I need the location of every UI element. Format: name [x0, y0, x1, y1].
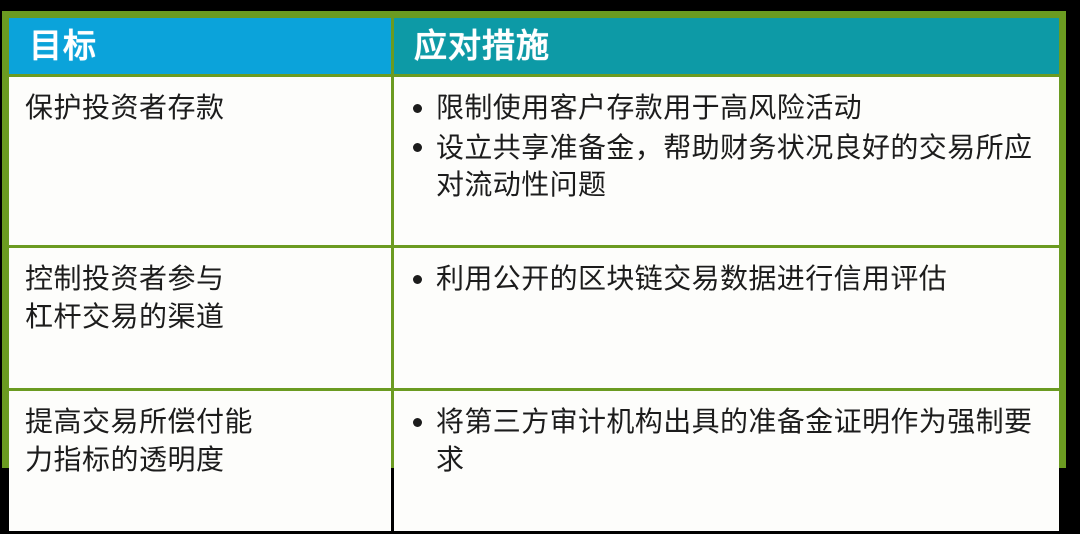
goal-line: 提高交易所偿付能 — [25, 403, 377, 441]
goal-line: 杠杆交易的渠道 — [25, 298, 377, 336]
table-row: 提高交易所偿付能 力指标的透明度 将第三方审计机构出具的准备金证明作为强制要求 — [9, 391, 1059, 531]
goal-line: 力指标的透明度 — [25, 441, 377, 479]
measure-item: 设立共享准备金，帮助财务状况良好的交易所应对流动性问题 — [410, 129, 1045, 204]
measure-item: 限制使用客户存款用于高风险活动 — [410, 89, 1045, 127]
measure-list: 将第三方审计机构出具的准备金证明作为强制要求 — [410, 403, 1045, 478]
measure-text: 限制使用客户存款用于高风险活动 — [436, 91, 862, 124]
column-header-measure: 应对措施 — [394, 18, 1059, 74]
measure-text: 将第三方审计机构出具的准备金证明作为强制要求 — [436, 405, 1032, 476]
table-row: 控制投资者参与 杠杆交易的渠道 利用公开的区块链交易数据进行信用评估 — [9, 248, 1059, 388]
measure-text: 利用公开的区块链交易数据进行信用评估 — [436, 262, 947, 295]
goal-line: 保护投资者存款 — [25, 89, 377, 127]
column-header-goal: 目标 — [9, 18, 391, 74]
goal-cell: 保护投资者存款 — [9, 77, 391, 245]
measure-item: 利用公开的区块链交易数据进行信用评估 — [410, 260, 1045, 298]
table-row: 保护投资者存款 限制使用客户存款用于高风险活动 设立共享准备金，帮助财务状况良好… — [9, 77, 1059, 245]
goal-cell: 控制投资者参与 杠杆交易的渠道 — [9, 248, 391, 388]
bullet-icon — [413, 104, 422, 113]
measure-list: 利用公开的区块链交易数据进行信用评估 — [410, 260, 1045, 298]
screenshot-frame: 目标 应对措施 保护投资者存款 限制使用客户存款用于高风险活动 — [0, 0, 1080, 468]
bullet-icon — [413, 275, 422, 284]
bullet-icon — [413, 143, 422, 152]
measure-item: 将第三方审计机构出具的准备金证明作为强制要求 — [410, 403, 1045, 478]
goals-measures-table: 目标 应对措施 保护投资者存款 限制使用客户存款用于高风险活动 — [6, 15, 1062, 534]
measure-cell: 利用公开的区块链交易数据进行信用评估 — [394, 248, 1059, 388]
table-container: 目标 应对措施 保护投资者存款 限制使用客户存款用于高风险活动 — [2, 11, 1066, 468]
table-body: 保护投资者存款 限制使用客户存款用于高风险活动 设立共享准备金，帮助财务状况良好… — [9, 77, 1059, 531]
table-header-row: 目标 应对措施 — [9, 18, 1059, 74]
measure-text: 设立共享准备金，帮助财务状况良好的交易所应对流动性问题 — [436, 131, 1032, 202]
goal-cell: 提高交易所偿付能 力指标的透明度 — [9, 391, 391, 531]
goal-line: 控制投资者参与 — [25, 260, 377, 298]
measure-cell: 限制使用客户存款用于高风险活动 设立共享准备金，帮助财务状况良好的交易所应对流动… — [394, 77, 1059, 245]
measure-list: 限制使用客户存款用于高风险活动 设立共享准备金，帮助财务状况良好的交易所应对流动… — [410, 89, 1045, 204]
bullet-icon — [413, 418, 422, 427]
measure-cell: 将第三方审计机构出具的准备金证明作为强制要求 — [394, 391, 1059, 531]
table-head: 目标 应对措施 — [9, 18, 1059, 74]
